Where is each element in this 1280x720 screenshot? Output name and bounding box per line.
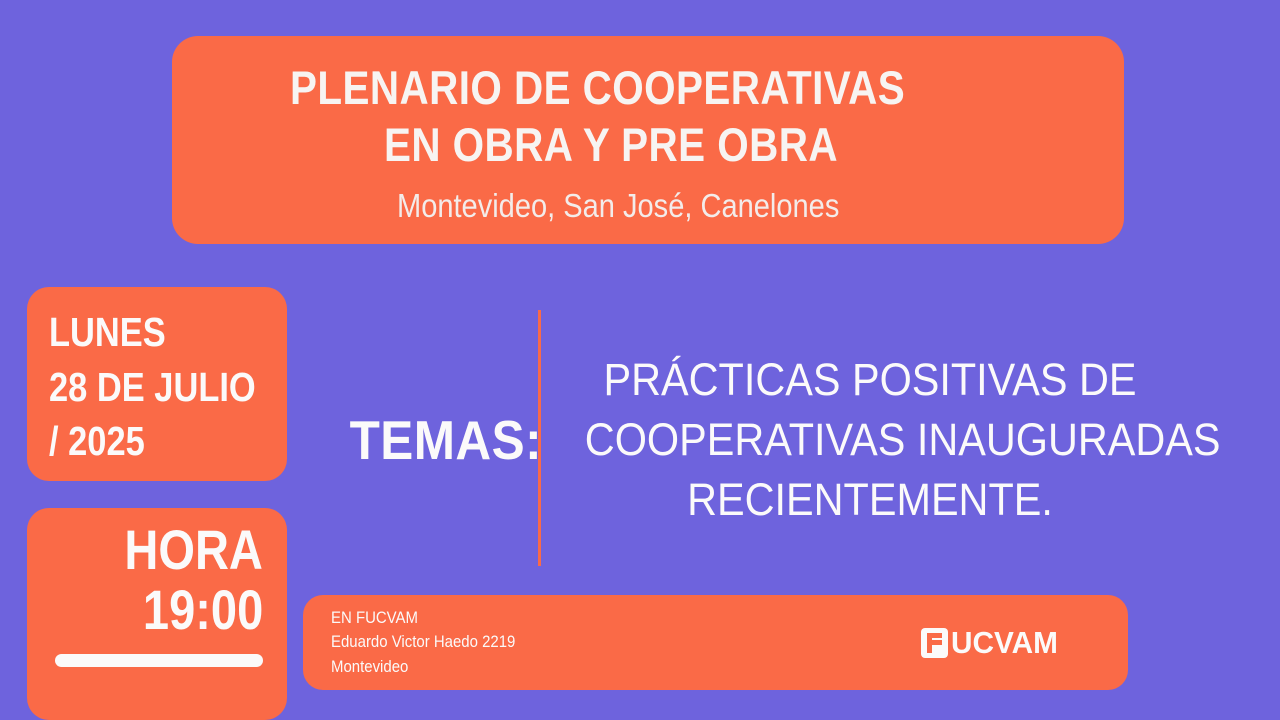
hour-card: HORA 19:00	[27, 508, 287, 720]
fucvam-logo: UCVAM	[921, 627, 1062, 658]
footer-bar: EN FUCVAM Eduardo Victor Haedo 2219 Mont…	[303, 595, 1128, 690]
topic-line-3: RECIENTEMENTE.	[585, 470, 1155, 530]
date-day-month: 28 DE JULIO	[49, 360, 249, 415]
header-title-line-2: EN OBRA Y PRE OBRA	[384, 116, 838, 173]
header-subtitle-locations: Montevideo, San José, Canelones	[397, 187, 839, 225]
fucvam-logo-wordmark: UCVAM	[951, 627, 1058, 658]
date-year: / 2025	[49, 414, 249, 469]
venue-block: EN FUCVAM Eduardo Victor Haedo 2219 Mont…	[331, 606, 921, 678]
venue-street: Eduardo Victor Haedo 2219	[331, 630, 850, 654]
venue-city: Montevideo	[331, 655, 850, 679]
letter-f-glyph	[927, 633, 942, 653]
hour-underline-bar	[55, 654, 263, 667]
temas-divider-line	[538, 310, 541, 566]
temas-label: TEMAS:	[350, 408, 526, 472]
header-card: PLENARIO DE COOPERATIVAS EN OBRA Y PRE O…	[172, 36, 1124, 244]
venue-name: EN FUCVAM	[331, 606, 850, 630]
topic-text: PRÁCTICAS POSITIVAS DE COOPERATIVAS INAU…	[585, 350, 1155, 530]
topic-line-1: PRÁCTICAS POSITIVAS DE	[585, 350, 1155, 410]
topic-line-2: COOPERATIVAS INAUGURADAS	[585, 410, 1155, 470]
hour-value: 19:00	[143, 580, 263, 640]
hour-label: HORA	[124, 520, 263, 580]
date-weekday: LUNES	[49, 305, 249, 360]
fucvam-f-mark-icon	[921, 628, 948, 658]
date-card: LUNES 28 DE JULIO / 2025	[27, 287, 287, 481]
header-title-line-1: PLENARIO DE COOPERATIVAS	[290, 59, 905, 116]
